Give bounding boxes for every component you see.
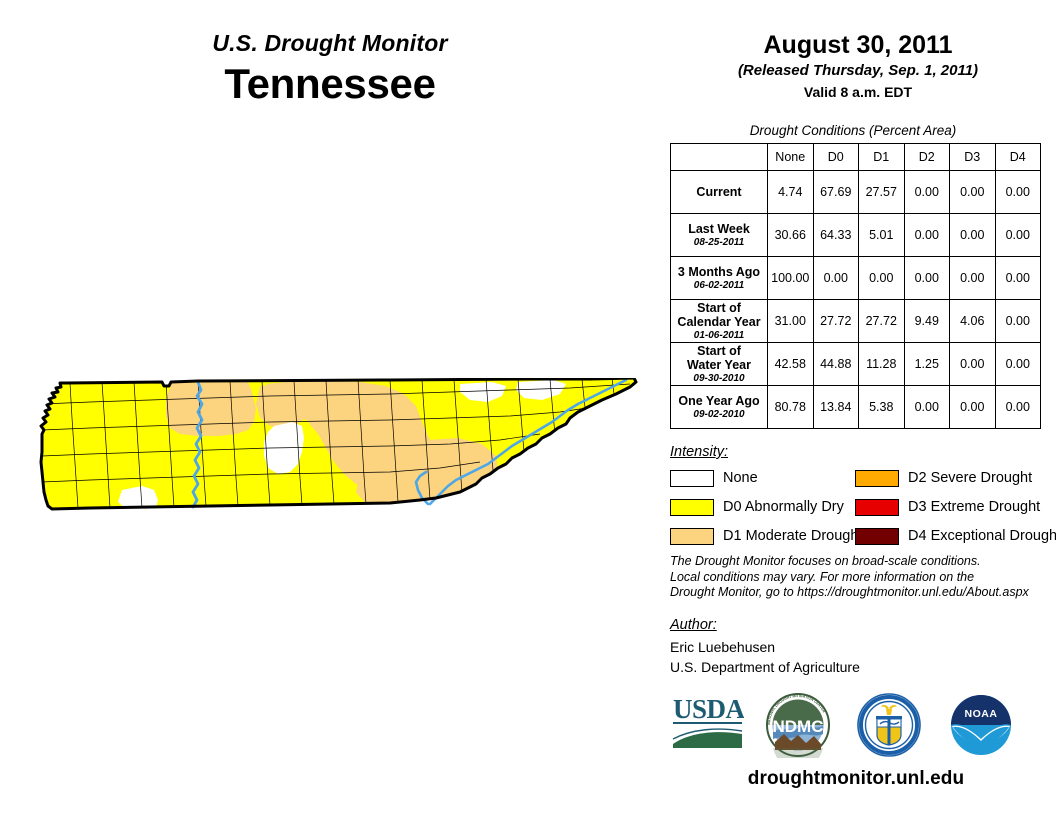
row-label-text: Current [696,185,741,199]
legend-item-d0: D0 Abnormally Dry [670,495,862,519]
row-label-text: One Year Ago [678,394,759,408]
swatch-d2-icon [855,470,899,487]
row-label-date: 06-02-2011 [671,279,767,292]
row-label-line2: Water Year [687,358,751,372]
map-region-d1-northwest [166,382,256,436]
cell-3-months-d3: 0.00 [950,257,996,300]
cell-3-months-d4: 0.00 [995,257,1041,300]
column-header-d4: D4 [995,144,1041,171]
website-url[interactable]: droughtmonitor.unl.edu [660,768,1052,790]
legend-label-d0: D0 Abnormally Dry [723,499,844,515]
cell-current-d0: 67.69 [813,171,859,214]
cell-water-year-d3: 0.00 [950,343,996,386]
cell-last-week-d1: 5.01 [859,214,905,257]
swatch-d3-icon [855,499,899,516]
column-header-d3: D3 [950,144,996,171]
row-label-line1: Start of [697,301,741,315]
row-label-start-water-year: Start of Water Year 09-30-2010 [671,343,768,386]
table-row: Current 4.74 67.69 27.57 0.00 0.00 0.00 [671,171,1041,214]
disclaimer-line-2: Local conditions may vary. For more info… [670,570,1050,586]
disclaimer-text: The Drought Monitor focuses on broad-sca… [670,554,1050,601]
row-label-date: 01-06-2011 [671,329,767,342]
table-row: One Year Ago 09-02-2010 80.78 13.84 5.38… [671,386,1041,429]
drought-map[interactable] [30,378,640,543]
map-date: August 30, 2011 [660,30,1056,60]
cell-water-year-d4: 0.00 [995,343,1041,386]
table-row: Start of Calendar Year 01-06-2011 31.00 … [671,300,1041,343]
legend-label-d1: D1 Moderate Drought [723,528,862,544]
cell-current-d3: 0.00 [950,171,996,214]
cell-one-year-none: 80.78 [768,386,814,429]
row-label-date: 09-02-2010 [671,408,767,421]
cell-3-months-d0: 0.00 [813,257,859,300]
legend-label-d3: D3 Extreme Drought [908,499,1040,515]
disclaimer-line-3: Drought Monitor, go to https://droughtmo… [670,585,1050,601]
author-name: Eric Luebehusen [670,637,860,657]
cell-water-year-d1: 11.28 [859,343,905,386]
cell-calendar-year-d1: 27.72 [859,300,905,343]
cell-last-week-d3: 0.00 [950,214,996,257]
cell-calendar-year-none: 31.00 [768,300,814,343]
usda-logo: USDA [672,692,744,759]
valid-time: Valid 8 a.m. EDT [660,82,1056,103]
cell-last-week-d2: 0.00 [904,214,950,257]
row-label-current: Current [671,171,768,214]
legend-item-d2: D2 Severe Drought [855,466,1056,490]
cell-3-months-d2: 0.00 [904,257,950,300]
legend-item-d1: D1 Moderate Drought [670,524,862,548]
cell-current-d1: 27.57 [859,171,905,214]
column-header-none: None [768,144,814,171]
cell-last-week-none: 30.66 [768,214,814,257]
swatch-d0-icon [670,499,714,516]
usda-wordmark: USDA [673,694,744,724]
right-panel: August 30, 2011 (Released Thursday, Sep.… [660,0,1056,816]
cell-current-d2: 0.00 [904,171,950,214]
cell-one-year-d3: 0.00 [950,386,996,429]
cell-one-year-d4: 0.00 [995,386,1041,429]
row-label-last-week: Last Week 08-25-2011 [671,214,768,257]
date-block: August 30, 2011 (Released Thursday, Sep.… [660,30,1056,103]
intensity-heading: Intensity: [670,444,728,460]
row-label-one-year-ago: One Year Ago 09-02-2010 [671,386,768,429]
table-row: 3 Months Ago 06-02-2011 100.00 0.00 0.00… [671,257,1041,300]
left-panel: U.S. Drought Monitor Tennessee [0,0,660,816]
cell-current-none: 4.74 [768,171,814,214]
row-label-3-months-ago: 3 Months Ago 06-02-2011 [671,257,768,300]
title-block: U.S. Drought Monitor Tennessee [0,28,660,110]
cell-current-d4: 0.00 [995,171,1041,214]
cell-calendar-year-d3: 4.06 [950,300,996,343]
column-header-d0: D0 [813,144,859,171]
ndmc-logo: NDMC NATIONAL DROUGHT MITIGATION CENTER [764,692,832,763]
legend-item-d3: D3 Extreme Drought [855,495,1056,519]
table-caption: Drought Conditions (Percent Area) [660,123,1046,139]
disclaimer-line-1: The Drought Monitor focuses on broad-sca… [670,554,1050,570]
legend-label-none: None [723,470,758,486]
legend-label-d4: D4 Exceptional Drought [908,528,1056,544]
row-label-date: 08-25-2011 [671,236,767,249]
cell-last-week-d4: 0.00 [995,214,1041,257]
ndmc-wordmark: NDMC [773,717,824,736]
legend-item-none: None [670,466,862,490]
row-label-start-calendar-year: Start of Calendar Year 01-06-2011 [671,300,768,343]
noaa-wordmark: NOAA [965,708,998,720]
map-drought-layers [30,378,640,543]
cell-calendar-year-d4: 0.00 [995,300,1041,343]
table-row: Start of Water Year 09-30-2010 42.58 44.… [671,343,1041,386]
cell-3-months-none: 100.00 [768,257,814,300]
author-heading: Author: [670,617,717,633]
author-affiliation: U.S. Department of Agriculture [670,657,860,677]
swatch-d4-icon [855,528,899,545]
table-corner-cell [671,144,768,171]
row-label-line2: Calendar Year [677,315,760,329]
table-row: Last Week 08-25-2011 30.66 64.33 5.01 0.… [671,214,1041,257]
legend-column-left: None D0 Abnormally Dry D1 Moderate Droug… [670,466,862,553]
cell-last-week-d0: 64.33 [813,214,859,257]
swatch-d1-icon [670,528,714,545]
tennessee-map-svg[interactable] [30,378,640,543]
cell-one-year-d2: 0.00 [904,386,950,429]
legend-column-right: D2 Severe Drought D3 Extreme Drought D4 … [855,466,1056,553]
release-date: (Released Thursday, Sep. 1, 2011) [660,60,1056,82]
cell-calendar-year-d0: 27.72 [813,300,859,343]
swatch-none-icon [670,470,714,487]
cell-water-year-d2: 1.25 [904,343,950,386]
author-block: Eric Luebehusen U.S. Department of Agric… [670,637,860,677]
column-header-d1: D1 [859,144,905,171]
legend-label-d2: D2 Severe Drought [908,470,1032,486]
drought-conditions-table: None D0 D1 D2 D3 D4 Current 4.74 67.69 2… [670,143,1041,429]
doc-logo [856,692,922,763]
cell-one-year-d1: 5.38 [859,386,905,429]
table-header-row: None D0 D1 D2 D3 D4 [671,144,1041,171]
cell-one-year-d0: 13.84 [813,386,859,429]
cell-water-year-none: 42.58 [768,343,814,386]
column-header-d2: D2 [904,144,950,171]
cell-water-year-d0: 44.88 [813,343,859,386]
noaa-logo: NOAA [948,692,1014,763]
cell-calendar-year-d2: 9.49 [904,300,950,343]
program-title: U.S. Drought Monitor [0,28,660,58]
row-label-line1: Start of [697,344,741,358]
cell-3-months-d1: 0.00 [859,257,905,300]
legend-item-d4: D4 Exceptional Drought [855,524,1056,548]
logo-row: USDA NDMC NATIONAL DROUGHT MITIGATION CE… [666,692,1046,762]
row-label-text: Last Week [688,222,750,236]
state-title: Tennessee [0,58,660,110]
row-label-text: 3 Months Ago [678,265,760,279]
row-label-date: 09-30-2010 [671,372,767,385]
